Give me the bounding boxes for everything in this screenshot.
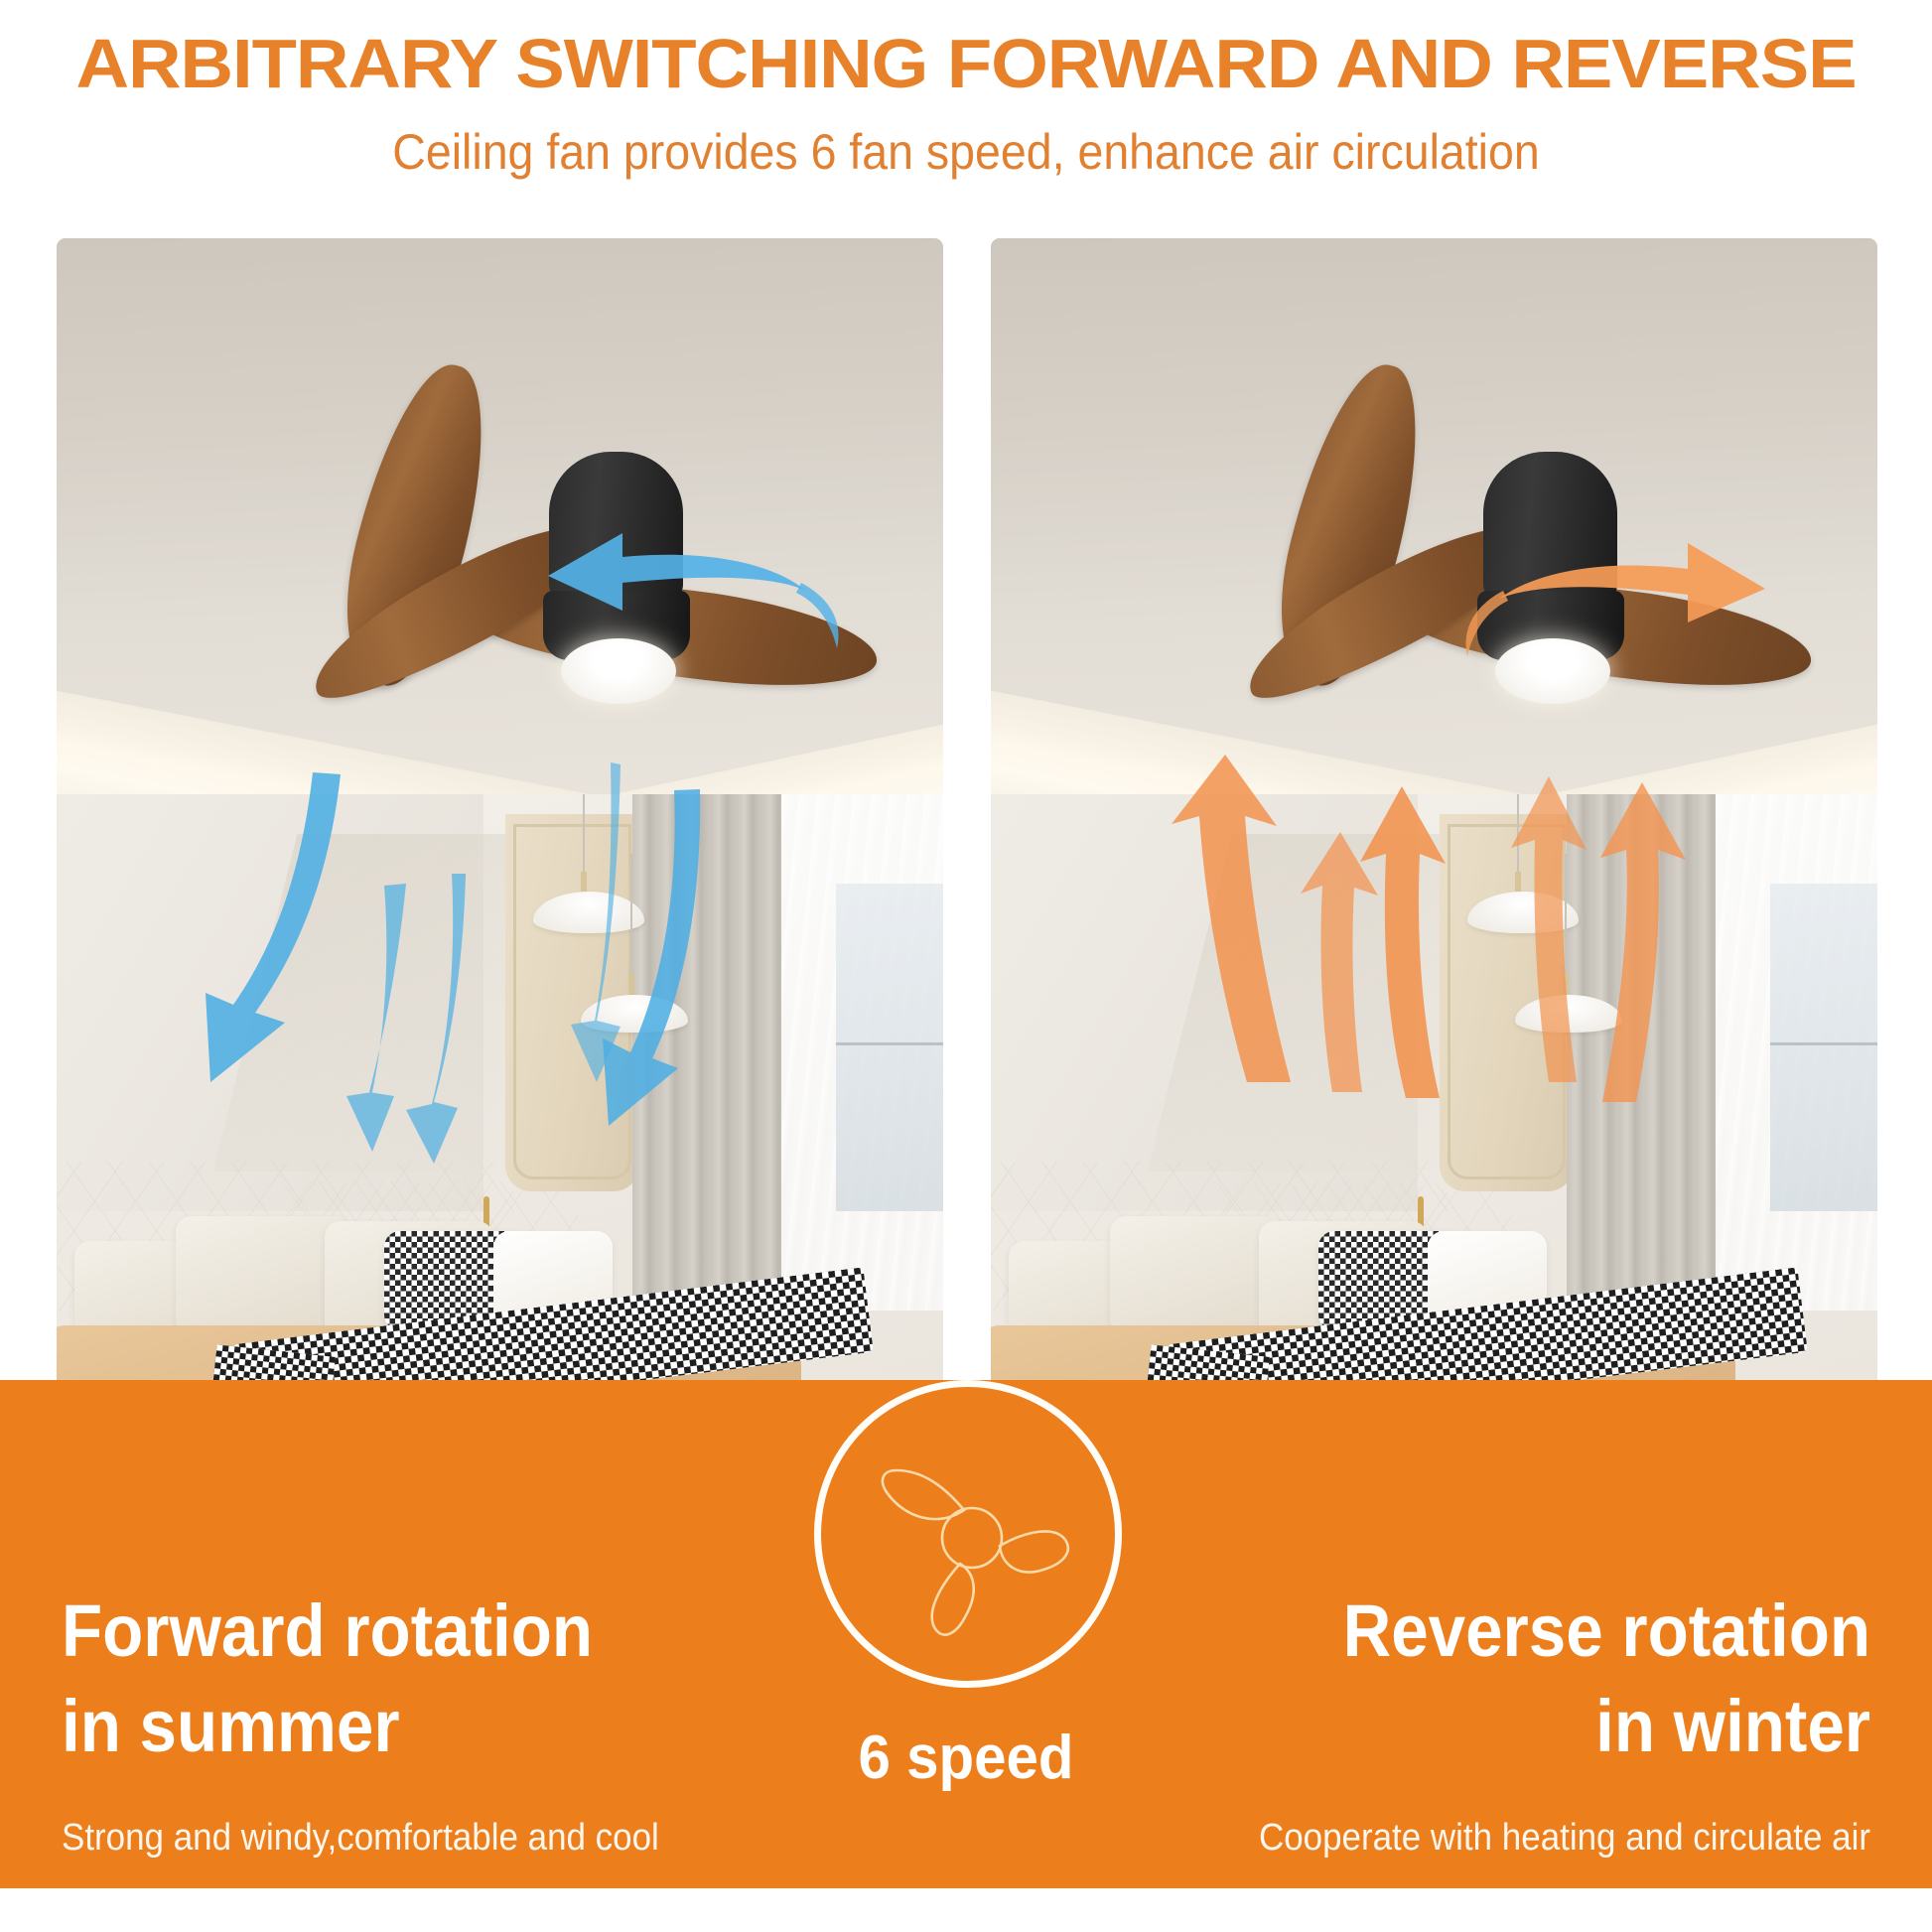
rotation-arrow-blue [474,472,891,700]
airflow-arrows-down [57,755,943,1311]
forward-rotation-subtitle: Strong and windy,comfortable and cool [62,1817,884,1860]
bedroom-scene-reverse [991,238,1877,1561]
panel-reverse-rotation [991,238,1877,1561]
header: ARBITRARY SWITCHING FORWARD AND REVERSE … [0,0,1932,238]
speed-label: 6 speed [58,1723,1873,1793]
panel-forward-rotation [57,238,943,1561]
fan-speed-badge [814,1380,1122,1688]
ceiling-fan-forward [354,323,871,740]
page-subtitle: Ceiling fan provides 6 fan speed, enhanc… [68,123,1864,181]
airflow-arrows-up [991,755,1877,1311]
bedroom-scene-forward [57,238,943,1561]
page-title: ARBITRARY SWITCHING FORWARD AND REVERSE [0,24,1932,103]
fan-blades-icon [853,1419,1091,1657]
rotation-arrow-orange [1408,472,1825,700]
reverse-rotation-line1: Reverse rotation [1183,1584,1870,1679]
reverse-rotation-subtitle: Cooperate with heating and circulate air [1048,1817,1870,1860]
forward-rotation-line1: Forward rotation [62,1584,749,1679]
ceiling-fan-reverse [1289,323,1805,740]
